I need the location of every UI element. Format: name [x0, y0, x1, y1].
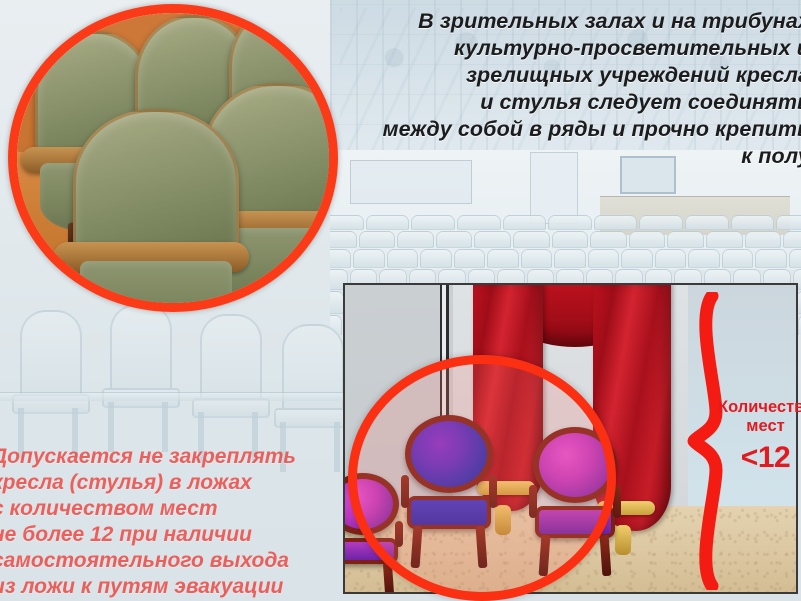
background-seat [474, 231, 511, 248]
background-seat [554, 249, 585, 268]
background-seat [366, 215, 410, 230]
chair-leg-front [411, 526, 423, 569]
rule-text-exception: Допускается не закреплять кресла (стулья… [0, 444, 332, 600]
top-text-line-5: между собой в ряды и прочно крепить [340, 116, 801, 143]
seat-back [73, 109, 239, 261]
top-text-line-1: В зрительных залах и на трибунах [340, 8, 801, 35]
background-seat [457, 215, 501, 230]
background-seat-row [330, 215, 801, 230]
background-chair [186, 314, 272, 464]
curtain-tassel [615, 525, 631, 555]
background-seat [685, 215, 729, 230]
chair-arm-left [401, 475, 409, 508]
background-seat [387, 249, 418, 268]
background-seat-row [330, 249, 801, 268]
chair-leg-back [476, 526, 488, 569]
loose-chair [405, 415, 493, 565]
chair-oval-back [405, 415, 493, 493]
background-seat [639, 215, 683, 230]
background-seat [552, 231, 589, 248]
photo-auditorium-seats [17, 13, 329, 303]
loose-chair [533, 427, 617, 573]
auditorium-seat [73, 109, 239, 303]
background-chair [6, 310, 92, 460]
chair-arm-right [489, 475, 497, 508]
background-seat [722, 249, 753, 268]
background-seat [621, 249, 652, 268]
background-seat [487, 249, 518, 268]
background-seat [783, 231, 801, 248]
background-chair [96, 304, 182, 454]
background-seat [330, 231, 357, 248]
seat-count-callout: Количество мест <12 [718, 398, 801, 475]
background-seat [789, 249, 801, 268]
rule-text-top: В зрительных залах и на трибунах культур… [340, 8, 801, 170]
chair-back [200, 314, 262, 404]
background-seat [513, 231, 550, 248]
background-seat [706, 231, 743, 248]
background-seat [548, 215, 592, 230]
background-seat [411, 215, 455, 230]
top-text-line-3: зрелищных учреждений кресла [340, 62, 801, 89]
chair-leg-back [383, 562, 394, 594]
background-seat [330, 215, 364, 230]
red-text-line-2: кресла (стулья) в ложах [0, 470, 332, 496]
chair-seat [407, 496, 491, 529]
red-text-line-3: с количеством мест [0, 496, 332, 522]
background-seat [655, 249, 686, 268]
background-seat [436, 231, 473, 248]
background-seat [454, 249, 485, 268]
chair-leg [334, 422, 340, 472]
background-seat [755, 249, 786, 268]
red-text-line-5: самостоятельного выхода [0, 548, 332, 574]
background-seat [629, 231, 666, 248]
top-text-line-6: к полу [340, 143, 801, 170]
background-seat [594, 215, 638, 230]
callout-line-1: Количество [718, 398, 801, 417]
seat-cushion [80, 261, 233, 303]
chair-oval-back [343, 473, 399, 535]
top-text-line-2: культурно-просветительных и [340, 35, 801, 62]
chair-oval-back [533, 427, 617, 503]
chair-seat [535, 506, 616, 538]
background-seat [359, 231, 396, 248]
background-seat [776, 215, 801, 230]
slide-canvas: В зрительных залах и на трибунах культур… [0, 0, 801, 601]
curtain-tassel [495, 505, 511, 535]
background-seat-row [330, 231, 801, 248]
background-seat [353, 249, 384, 268]
red-text-line-6: из ложи к путям эвакуации [0, 574, 332, 600]
background-seat [330, 249, 351, 268]
top-text-line-4: и стулья следует соединять [340, 89, 801, 116]
loose-chair [343, 473, 399, 593]
background-seat [590, 231, 627, 248]
chair-leg-back [600, 535, 612, 576]
callout-line-2: мест [718, 417, 801, 436]
red-text-line-1: Допускается не закреплять [0, 444, 332, 470]
chair-back [20, 310, 82, 400]
background-seat [397, 231, 434, 248]
background-seat [420, 249, 451, 268]
background-seat [731, 215, 775, 230]
background-seat [688, 249, 719, 268]
circle-photo-fixed-seats [8, 4, 338, 312]
callout-value: <12 [718, 441, 801, 475]
background-seat [521, 249, 552, 268]
chair-leg-front [538, 535, 550, 576]
chair-back [110, 304, 172, 394]
red-text-line-4: не более 12 при наличии [0, 522, 332, 548]
background-rail [0, 392, 345, 401]
background-seat [667, 231, 704, 248]
background-seat [588, 249, 619, 268]
chair-arm-left [529, 485, 537, 517]
background-seat [745, 231, 782, 248]
seat-leg [245, 294, 253, 303]
chair-arm-right [613, 485, 621, 517]
chair-seat [343, 538, 398, 564]
chair-arm-right [395, 521, 403, 547]
background-seat [503, 215, 547, 230]
